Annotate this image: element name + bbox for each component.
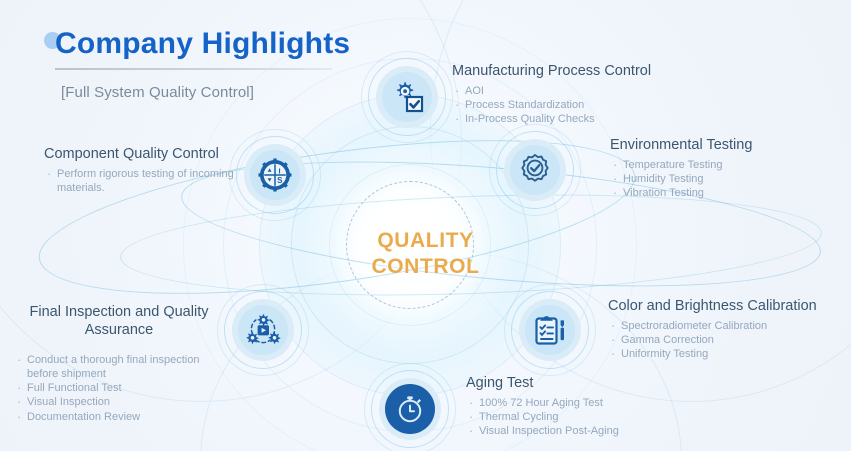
list-item: Process Standardization — [452, 98, 651, 112]
node-bullet-list: 100% 72 Hour Aging Test Thermal Cycling … — [466, 396, 619, 438]
page-title: Company Highlights — [55, 28, 395, 60]
svg-text:I: I — [279, 166, 281, 175]
list-item: 100% 72 Hour Aging Test — [466, 396, 619, 410]
gear-check-icon[interactable] — [376, 66, 438, 128]
node-title: Manufacturing Process Control — [452, 62, 651, 80]
clipboard-pen-icon[interactable] — [519, 299, 581, 361]
center-label-line1: QUALITY — [0, 228, 851, 254]
node-bullet-list: Conduct a thorough final inspection befo… — [14, 353, 214, 423]
page-subtitle: [Full System Quality Control] — [61, 84, 395, 101]
list-item: Full Functional Test — [14, 381, 214, 395]
badge-check-icon[interactable] — [504, 139, 566, 201]
node-title: Environmental Testing — [610, 136, 752, 154]
list-item: Gamma Correction — [608, 333, 817, 347]
node-bullet-list: Perform rigorous testing of incoming mat… — [44, 167, 240, 195]
list-item: Conduct a thorough final inspection befo… — [14, 353, 214, 381]
list-item: Documentation Review — [14, 410, 214, 424]
list-item: Uniformity Testing — [608, 347, 817, 361]
list-item: Thermal Cycling — [466, 410, 619, 424]
list-item: Visual Inspection Post-Aging — [466, 424, 619, 438]
svg-text:S: S — [277, 176, 283, 185]
center-label: QUALITY CONTROL — [0, 228, 851, 281]
list-item: AOI — [452, 84, 651, 98]
slide-canvas: Company Highlights [Full System Quality … — [0, 0, 851, 451]
node-bullet-list: Spectroradiometer Calibration Gamma Corr… — [608, 319, 817, 361]
title-underline — [55, 68, 332, 70]
list-item: Humidity Testing — [610, 172, 752, 186]
node-title: Component Quality Control — [44, 145, 240, 163]
gear-quadrant-icon[interactable]: I S — [244, 144, 306, 206]
list-item: In-Process Quality Checks — [452, 112, 651, 126]
stopwatch-icon[interactable] — [379, 378, 441, 440]
center-label-line2: CONTROL — [0, 254, 851, 280]
node-title: Aging Test — [466, 374, 619, 392]
list-item: Visual Inspection — [14, 395, 214, 409]
list-item: Temperature Testing — [610, 158, 752, 172]
gears-play-icon[interactable] — [232, 299, 294, 361]
node-title: Color and Brightness Calibration — [608, 297, 817, 315]
list-item: Spectroradiometer Calibration — [608, 319, 817, 333]
list-item: Vibration Testing — [610, 186, 752, 200]
node-title: Final Inspection and Quality Assurance — [14, 303, 224, 339]
list-item: Perform rigorous testing of incoming mat… — [44, 167, 240, 195]
header: Company Highlights [Full System Quality … — [55, 28, 395, 101]
node-bullet-list: AOI Process Standardization In-Process Q… — [452, 84, 651, 126]
node-bullet-list: Temperature Testing Humidity Testing Vib… — [610, 158, 752, 200]
